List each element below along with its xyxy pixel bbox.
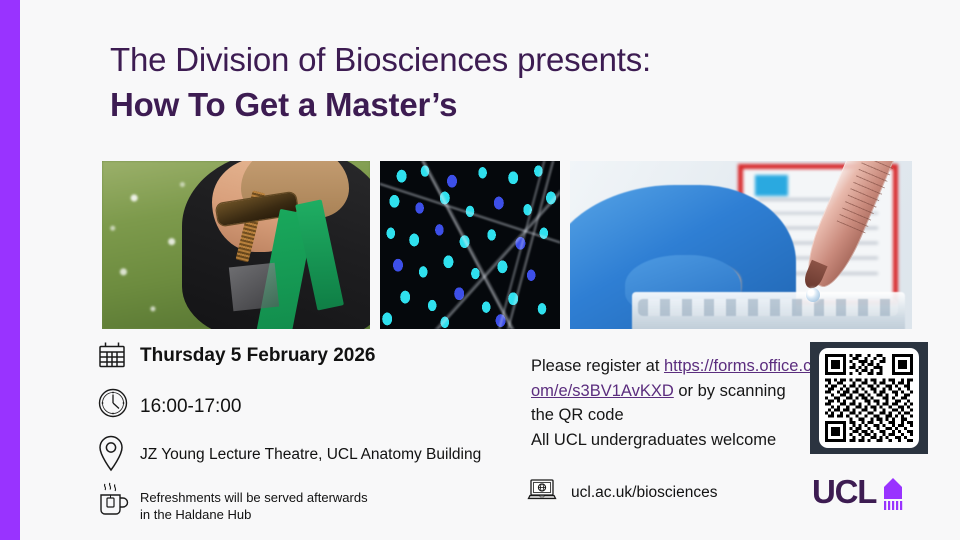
- registration-block: Please register at https://forms.office.…: [531, 354, 813, 452]
- registration-intro: Please register at: [531, 357, 664, 375]
- ucl-logo: UCL: [812, 473, 932, 513]
- tshirt-print: [228, 263, 278, 311]
- event-date: Thursday 5 February 2026: [140, 340, 376, 367]
- ucl-portico-mark: [884, 478, 902, 510]
- map-pin-icon: [96, 434, 140, 472]
- qr-code-matrix: [825, 354, 913, 442]
- detail-row-refreshments: Refreshments will be served afterwards i…: [96, 480, 526, 530]
- poster-slide: The Division of Biosciences presents: Ho…: [0, 0, 960, 540]
- teacup-icon: [96, 480, 140, 520]
- title-line-presents: The Division of Biosciences presents:: [110, 38, 870, 82]
- clock-icon: [96, 386, 140, 420]
- registration-welcome: All UCL undergraduates welcome: [531, 428, 813, 453]
- refreshments-line1: Refreshments will be served afterwards: [140, 490, 368, 505]
- laptop-globe-icon: [527, 478, 557, 507]
- lab-pipetting-photo: [570, 161, 912, 329]
- event-details: Thursday 5 February 2026 16:00-17:00: [96, 340, 526, 530]
- well-plate-wells: [638, 299, 898, 316]
- refreshments-note: Refreshments will be served afterwards i…: [140, 480, 368, 523]
- detail-row-date: Thursday 5 February 2026: [96, 340, 526, 386]
- liquid-droplet: [806, 288, 820, 302]
- event-time: 16:00-17:00: [140, 386, 241, 418]
- detail-row-location: JZ Young Lecture Theatre, UCL Anatomy Bu…: [96, 434, 526, 480]
- calendar-icon: [96, 340, 140, 372]
- website-url: ucl.ac.uk/biosciences: [571, 484, 717, 502]
- detail-row-time: 16:00-17:00: [96, 386, 526, 434]
- fluorescence-microscopy-photo: [380, 161, 560, 329]
- field-researcher-photo: [102, 161, 370, 329]
- left-accent-bar: [0, 0, 20, 540]
- neurite-network: [380, 161, 560, 329]
- title-line-main: How To Get a Master’s: [110, 82, 870, 128]
- qr-code-inner: [819, 348, 919, 448]
- website-row: ucl.ac.uk/biosciences: [527, 478, 717, 507]
- poster-logo-block: [755, 175, 788, 196]
- page-title: The Division of Biosciences presents: Ho…: [110, 38, 870, 128]
- event-location: JZ Young Lecture Theatre, UCL Anatomy Bu…: [140, 434, 481, 464]
- refreshments-line2: in the Haldane Hub: [140, 507, 251, 522]
- qr-code[interactable]: [810, 342, 928, 454]
- ucl-logo-text: UCL: [812, 473, 877, 510]
